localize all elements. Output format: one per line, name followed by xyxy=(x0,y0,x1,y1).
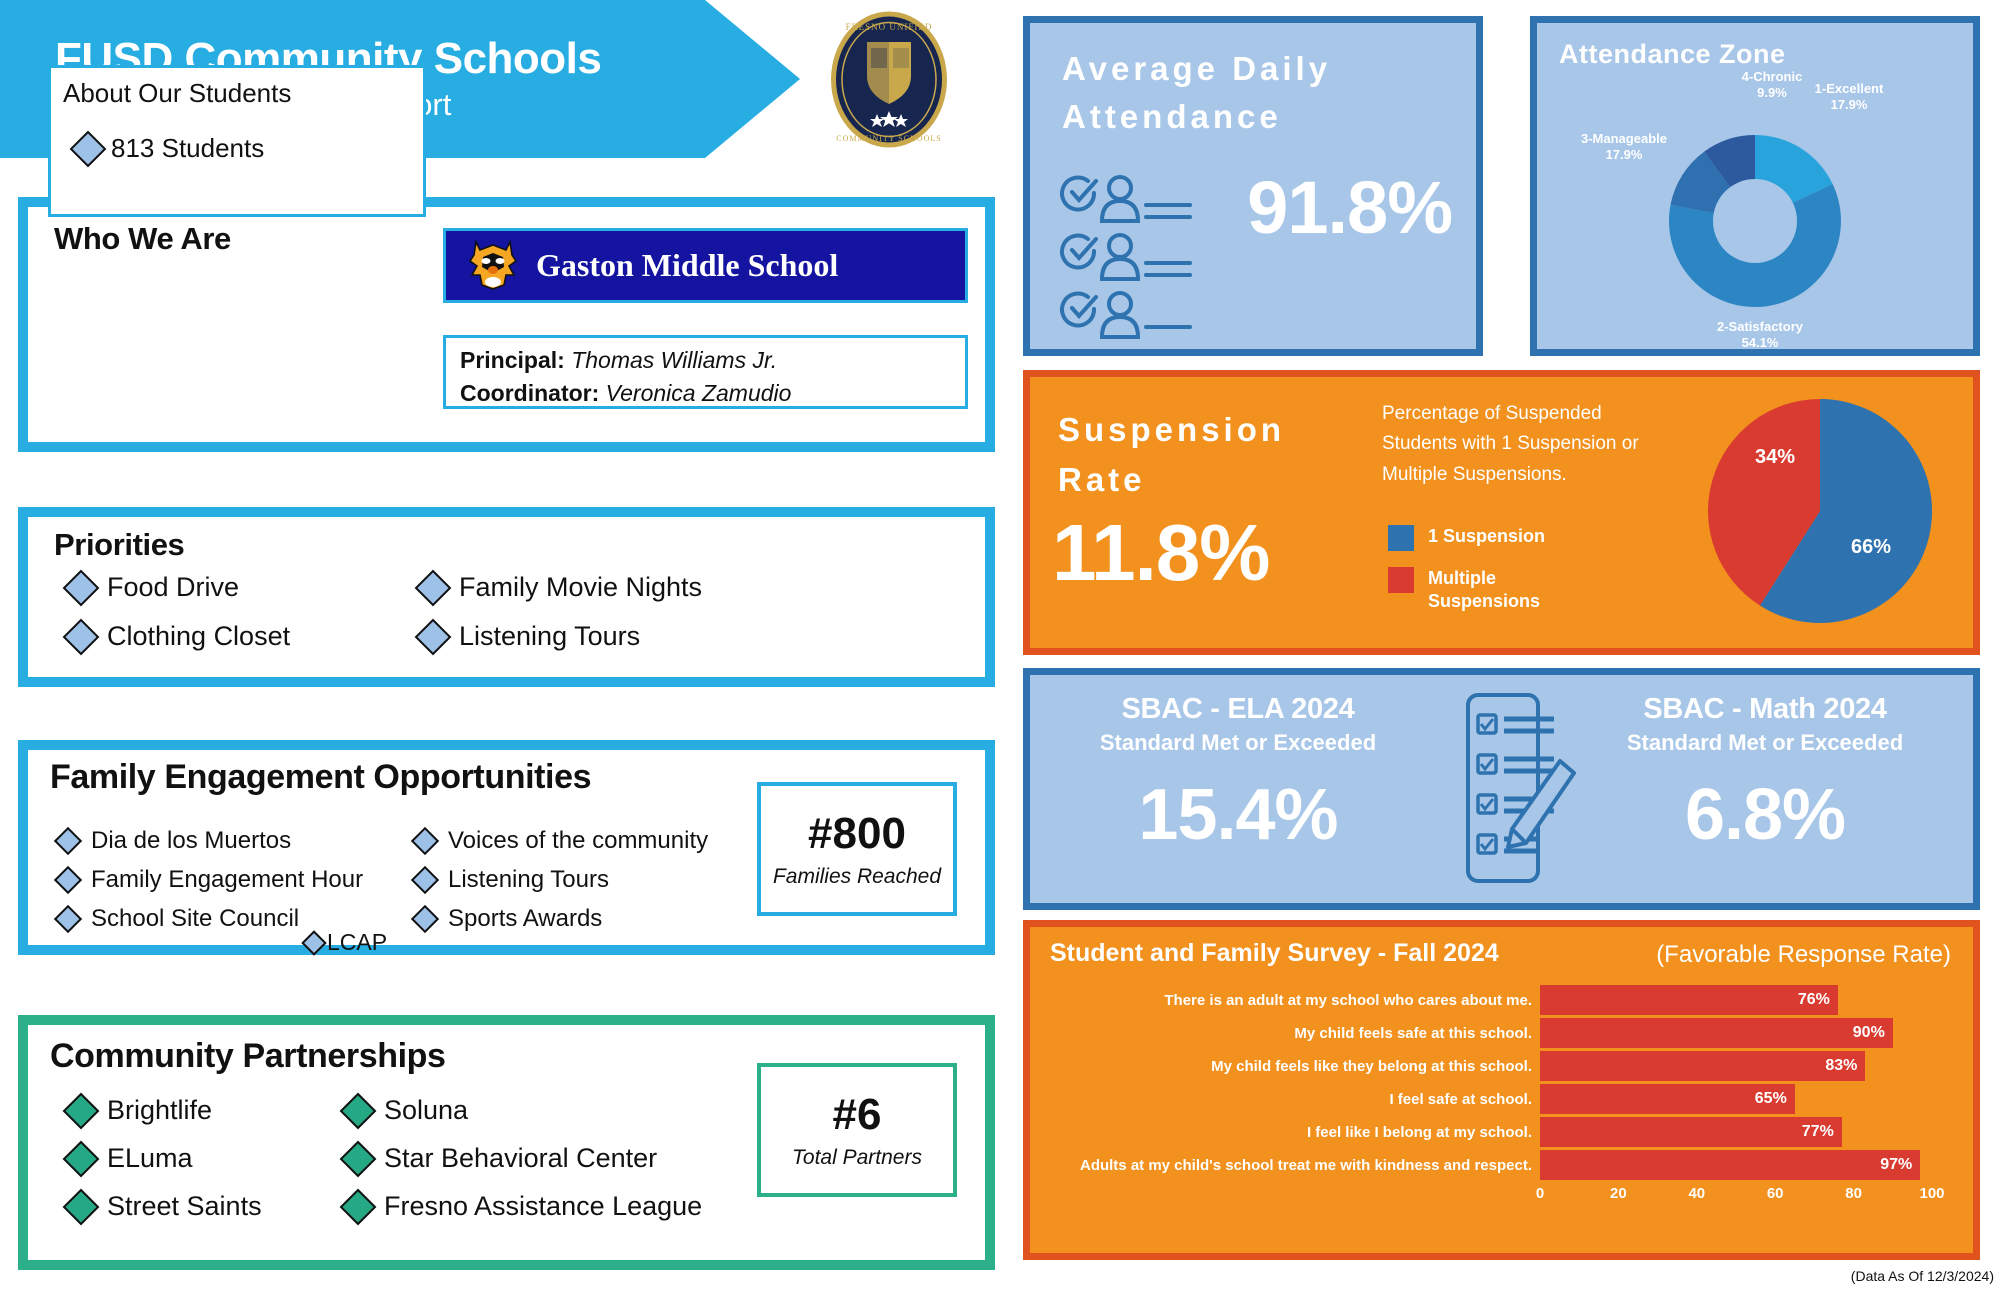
suspension-pie-chart: 66% 34% xyxy=(1695,385,1945,637)
staff-info-box: Principal: Thomas Williams Jr. Coordinat… xyxy=(443,335,968,409)
pencil-icon xyxy=(1508,761,1574,847)
ada-title: Average Daily Attendance xyxy=(1062,45,1331,141)
list-item-label: Family Engagement Hour xyxy=(91,866,363,894)
list-item-label: School Site Council xyxy=(91,905,299,933)
list-item-lcap: LCAP xyxy=(305,929,387,956)
ada-value: 91.8% xyxy=(1247,165,1452,250)
diamond-bullet-icon xyxy=(54,827,82,855)
list-item-label: Soluna xyxy=(384,1095,468,1126)
fusd-seal-logo: FRESNO UNIFIED COMMUNITY SCHOOLS xyxy=(815,8,963,151)
legend-swatch-multiple-suspensions xyxy=(1388,567,1414,593)
suspension-title: Suspension Rate xyxy=(1058,405,1285,504)
principal-name: Thomas Williams Jr. xyxy=(571,347,777,373)
list-item-label: ELuma xyxy=(107,1143,193,1174)
list-item: Sports Awards xyxy=(415,905,708,933)
community-col1: Brightlife ELuma Street Saints xyxy=(68,1095,262,1222)
diamond-bullet-icon xyxy=(54,866,82,894)
sbac-ela-value: 15.4% xyxy=(1048,774,1428,856)
diamond-bullet-icon xyxy=(301,930,326,955)
ada-title-line2: Attendance xyxy=(1062,93,1331,141)
average-daily-attendance-card: Average Daily Attendance xyxy=(1023,16,1483,356)
diamond-bullet-icon xyxy=(63,618,100,655)
about-our-students-box: About Our Students 813 Students xyxy=(48,65,426,217)
sbac-math-title: SBAC - Math 2024 xyxy=(1575,693,1955,726)
sbac-math-value: 6.8% xyxy=(1575,774,1955,856)
list-item-label: Brightlife xyxy=(107,1095,212,1126)
survey-subtitle: (Favorable Response Rate) xyxy=(1656,941,1951,969)
survey-bar-track: 77% xyxy=(1540,1117,1932,1147)
list-item-label: Family Movie Nights xyxy=(459,572,702,603)
survey-bar: 77% xyxy=(1540,1117,1842,1147)
list-item-label: Dia de los Muertos xyxy=(91,827,291,855)
survey-bar-value: 76% xyxy=(1798,991,1830,1009)
survey-bar-row: Adults at my child's school treat me wit… xyxy=(1030,1150,1973,1180)
families-reached-number: #800 xyxy=(808,809,906,859)
survey-bar-row: There is an adult at my school who cares… xyxy=(1030,985,1973,1015)
list-item: Street Saints xyxy=(68,1191,262,1222)
list-item: Food Drive xyxy=(68,572,290,603)
pie-value-34: 34% xyxy=(1755,446,1795,468)
priorities-col1: Food Drive Clothing Closet xyxy=(68,572,290,652)
student-count: 813 Students xyxy=(111,133,264,164)
survey-bar-chart: There is an adult at my school who cares… xyxy=(1030,985,1973,1211)
principal-label: Principal: xyxy=(460,347,565,373)
legend-item: Multiple Suspensions xyxy=(1388,567,1548,612)
list-item: Brightlife xyxy=(68,1095,262,1126)
diamond-bullet-icon xyxy=(54,905,82,933)
diamond-bullet-icon xyxy=(340,1188,377,1225)
suspension-value: 11.8% xyxy=(1052,507,1269,599)
suspension-title-line2: Rate xyxy=(1058,455,1285,505)
coordinator-label: Coordinator: xyxy=(460,380,599,406)
legend-label: Multiple Suspensions xyxy=(1428,567,1548,612)
legend-item: 1 Suspension xyxy=(1388,525,1548,551)
tiger-mascot-icon xyxy=(466,239,520,293)
families-reached-caption: Families Reached xyxy=(773,865,941,889)
coordinator-row: Coordinator: Veronica Zamudio xyxy=(460,377,965,410)
survey-bar-track: 83% xyxy=(1540,1051,1932,1081)
survey-bar-value: 83% xyxy=(1825,1057,1857,1075)
survey-axis-tick: 40 xyxy=(1688,1185,1705,1202)
list-item-label: Clothing Closet xyxy=(107,621,290,652)
suspension-description: Percentage of Suspended Students with 1 … xyxy=(1382,399,1657,490)
diamond-bullet-icon xyxy=(415,569,452,606)
survey-bar-value: 77% xyxy=(1802,1123,1834,1141)
list-item: Star Behavioral Center xyxy=(345,1143,702,1174)
list-item: Family Movie Nights xyxy=(420,572,702,603)
list-item: Listening Tours xyxy=(420,621,702,652)
sbac-math-column: SBAC - Math 2024 Standard Met or Exceede… xyxy=(1575,693,1955,856)
diamond-bullet-icon xyxy=(415,618,452,655)
diamond-bullet-icon xyxy=(63,1092,100,1129)
list-item: ELuma xyxy=(68,1143,262,1174)
zone-label-satisfactory: 2-Satisfactory 54.1% xyxy=(1685,319,1835,352)
survey-bar: 97% xyxy=(1540,1150,1920,1180)
survey-bar: 76% xyxy=(1540,985,1838,1015)
list-item: Dia de los Muertos xyxy=(58,827,363,855)
sbac-card: SBAC - ELA 2024 Standard Met or Exceeded… xyxy=(1023,668,1980,910)
diamond-bullet-icon xyxy=(340,1092,377,1129)
list-item: Voices of the community xyxy=(415,827,708,855)
total-partners-number: #6 xyxy=(833,1090,882,1140)
list-item: Soluna xyxy=(345,1095,702,1126)
survey-bar-label: Adults at my child's school treat me wit… xyxy=(1030,1157,1540,1174)
suspension-legend: 1 Suspension Multiple Suspensions xyxy=(1388,525,1548,628)
school-name-banner: Gaston Middle School xyxy=(443,228,968,303)
total-partners-caption: Total Partners xyxy=(792,1146,922,1170)
zone-label-chronic: 4-Chronic 9.9% xyxy=(1717,69,1827,102)
list-item-label: Food Drive xyxy=(107,572,239,603)
attendance-zone-title: Attendance Zone xyxy=(1559,39,1786,70)
about-our-students-title: About Our Students xyxy=(51,68,423,109)
survey-axis-tick: 100 xyxy=(1919,1185,1944,1202)
list-item: Listening Tours xyxy=(415,866,708,894)
list-item-label: Fresno Assistance League xyxy=(384,1191,702,1222)
survey-x-axis: 020406080100 xyxy=(1540,1183,1932,1205)
survey-bar-label: There is an adult at my school who cares… xyxy=(1030,992,1540,1009)
survey-axis-tick: 80 xyxy=(1845,1185,1862,1202)
survey-axis-tick: 60 xyxy=(1767,1185,1784,1202)
infographic-page: FUSD Community Schools 2024 November Dat… xyxy=(0,0,2000,1294)
survey-title: Student and Family Survey - Fall 2024 xyxy=(1050,939,1499,968)
suspension-rate-card: Suspension Rate 11.8% Percentage of Susp… xyxy=(1023,370,1980,655)
survey-bar-track: 90% xyxy=(1540,1018,1932,1048)
pie-value-66: 66% xyxy=(1851,536,1891,558)
diamond-bullet-icon xyxy=(70,130,107,167)
priorities-col2: Family Movie Nights Listening Tours xyxy=(420,572,702,652)
survey-bar-row: I feel like I belong at my school.77% xyxy=(1030,1117,1973,1147)
list-item-label: Listening Tours xyxy=(448,866,609,894)
survey-bar-value: 65% xyxy=(1755,1090,1787,1108)
student-count-row: 813 Students xyxy=(51,109,423,164)
survey-bar: 90% xyxy=(1540,1018,1893,1048)
sbac-ela-title: SBAC - ELA 2024 xyxy=(1048,693,1428,726)
who-we-are-heading: Who We Are xyxy=(54,221,231,257)
diamond-bullet-icon xyxy=(63,1140,100,1177)
survey-bar-row: My child feels safe at this school.90% xyxy=(1030,1018,1973,1048)
total-partners-stat: #6 Total Partners xyxy=(757,1063,957,1197)
list-item-label: Star Behavioral Center xyxy=(384,1143,657,1174)
principal-row: Principal: Thomas Williams Jr. xyxy=(460,344,965,377)
list-item-label: LCAP xyxy=(327,929,387,956)
zone-label-manageable: 3-Manageable 17.9% xyxy=(1559,131,1689,164)
survey-axis-tick: 20 xyxy=(1610,1185,1627,1202)
suspension-title-line1: Suspension xyxy=(1058,405,1285,455)
survey-bar: 65% xyxy=(1540,1084,1795,1114)
community-col2: Soluna Star Behavioral Center Fresno Ass… xyxy=(345,1095,702,1222)
survey-bar-label: My child feels safe at this school. xyxy=(1030,1025,1540,1042)
list-item-label: Listening Tours xyxy=(459,621,640,652)
survey-bar-label: My child feels like they belong at this … xyxy=(1030,1058,1540,1075)
family-engagement-col1: Dia de los Muertos Family Engagement Hou… xyxy=(58,827,363,933)
sbac-ela-subtitle: Standard Met or Exceeded xyxy=(1048,730,1428,756)
diamond-bullet-icon xyxy=(340,1140,377,1177)
attendance-zone-donut-chart: 1-Excellent 17.9% 4-Chronic 9.9% 3-Manag… xyxy=(1537,71,1973,349)
diamond-bullet-icon xyxy=(411,866,439,894)
legend-swatch-1-suspension xyxy=(1388,525,1414,551)
survey-bar-label: I feel safe at school. xyxy=(1030,1091,1540,1108)
list-item: Family Engagement Hour xyxy=(58,866,363,894)
diamond-bullet-icon xyxy=(411,827,439,855)
student-family-survey-card: Student and Family Survey - Fall 2024 (F… xyxy=(1023,920,1980,1260)
sbac-ela-column: SBAC - ELA 2024 Standard Met or Exceeded… xyxy=(1048,693,1428,856)
data-as-of-footnote: (Data As Of 12/3/2024) xyxy=(1851,1268,1994,1284)
survey-bar-track: 76% xyxy=(1540,985,1932,1015)
priorities-heading: Priorities xyxy=(54,527,184,563)
family-engagement-col2: Voices of the community Listening Tours … xyxy=(415,827,708,933)
diamond-bullet-icon xyxy=(63,569,100,606)
list-item-label: Voices of the community xyxy=(448,827,708,855)
svg-text:FRESNO UNIFIED: FRESNO UNIFIED xyxy=(846,22,933,32)
svg-text:COMMUNITY SCHOOLS: COMMUNITY SCHOOLS xyxy=(836,134,941,143)
survey-bar-value: 97% xyxy=(1880,1156,1912,1174)
list-item: Fresno Assistance League xyxy=(345,1191,702,1222)
diamond-bullet-icon xyxy=(63,1188,100,1225)
survey-bar-row: I feel safe at school.65% xyxy=(1030,1084,1973,1114)
survey-bar-label: I feel like I belong at my school. xyxy=(1030,1124,1540,1141)
survey-bar: 83% xyxy=(1540,1051,1865,1081)
families-reached-stat: #800 Families Reached xyxy=(757,782,957,916)
coordinator-name: Veronica Zamudio xyxy=(606,380,792,406)
attendance-checklist-icon xyxy=(1058,173,1248,353)
list-item-label: Sports Awards xyxy=(448,905,602,933)
survey-bar-track: 65% xyxy=(1540,1084,1932,1114)
school-name: Gaston Middle School xyxy=(536,247,838,284)
diamond-bullet-icon xyxy=(411,905,439,933)
survey-bar-value: 90% xyxy=(1853,1024,1885,1042)
list-item-label: Street Saints xyxy=(107,1191,262,1222)
community-partnerships-heading: Community Partnerships xyxy=(50,1037,446,1076)
survey-axis-tick: 0 xyxy=(1536,1185,1544,1202)
attendance-zone-card: Attendance Zone 1-Excellent 17.9% xyxy=(1530,16,1980,356)
ada-title-line1: Average Daily xyxy=(1062,45,1331,93)
legend-label: 1 Suspension xyxy=(1428,525,1545,548)
clipboard-checklist-icon xyxy=(1422,689,1582,889)
list-item: Clothing Closet xyxy=(68,621,290,652)
sbac-math-subtitle: Standard Met or Exceeded xyxy=(1575,730,1955,756)
survey-bar-row: My child feels like they belong at this … xyxy=(1030,1051,1973,1081)
survey-bar-track: 97% xyxy=(1540,1150,1932,1180)
family-engagement-heading: Family Engagement Opportunities xyxy=(50,758,591,797)
